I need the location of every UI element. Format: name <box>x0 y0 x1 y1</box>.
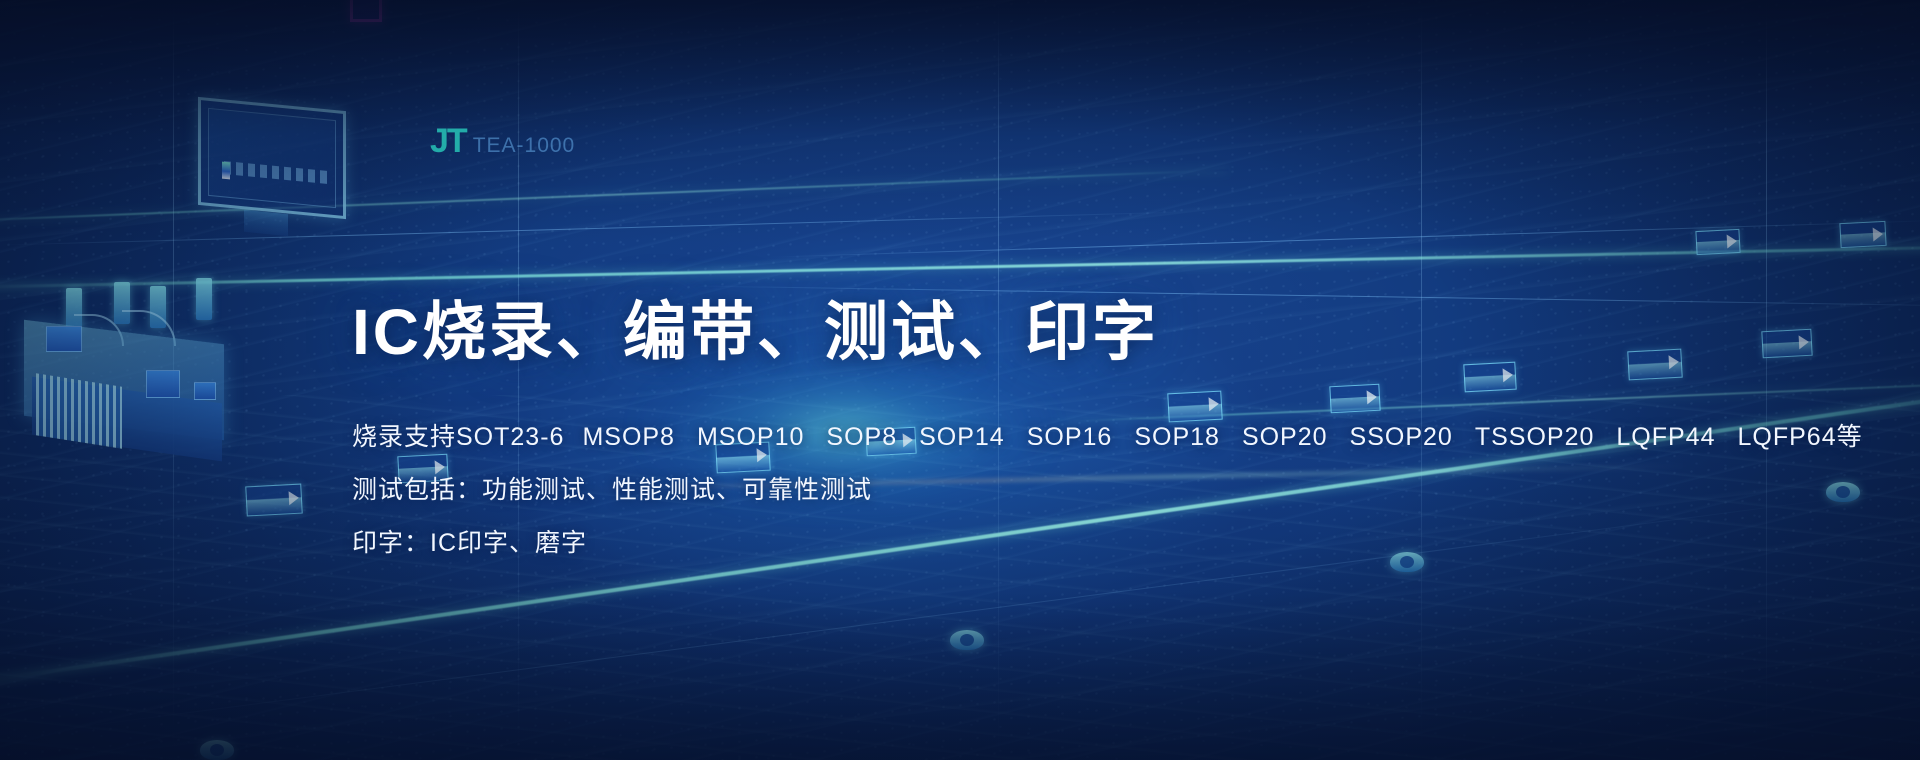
package-item: MSOP10 <box>697 418 804 457</box>
banner-subtext: 烧录支持SOT23-6 MSOP8MSOP10SOP8SOP14SOP16SOP… <box>352 418 1612 562</box>
magenta-artifact <box>350 0 382 22</box>
package-item: LQFP64等 <box>1738 418 1863 457</box>
chip-glyph <box>1761 329 1812 359</box>
background-edge-line <box>0 211 1190 245</box>
watermark-model: TEA-1000 <box>473 134 576 158</box>
package-item: SSOP20 <box>1350 418 1453 457</box>
control-monitor-illustration <box>198 104 346 212</box>
package-support-label: 烧录支持SOT23-6 <box>352 418 564 457</box>
package-item: SOP8 <box>826 418 897 457</box>
chip-glyph <box>1627 349 1682 381</box>
marking-scope-line: 印字：IC印字、磨字 <box>352 524 1612 563</box>
chip-glyph <box>1839 221 1886 248</box>
package-item: SOP18 <box>1134 418 1220 457</box>
package-item: SOP14 <box>919 418 1005 457</box>
banner-content: IC烧录、编带、测试、印字 烧录支持SOT23-6 MSOP8MSOP10SOP… <box>352 300 1612 562</box>
spool-glyph <box>1826 482 1860 502</box>
background-light-rail <box>0 169 1228 225</box>
banner-headline: IC烧录、编带、测试、印字 <box>352 300 1612 364</box>
package-item: SOP20 <box>1242 418 1328 457</box>
chip-glyph <box>1695 229 1740 255</box>
test-scope-line: 测试包括：功能测试、性能测试、可靠性测试 <box>352 471 1612 510</box>
ic-service-banner: JT TEA-1000 IC烧录、编带、测试、印字 烧录支持SOT23-6 MS… <box>0 0 1920 760</box>
package-item: MSOP8 <box>582 418 675 457</box>
package-list: MSOP8MSOP10SOP8SOP14SOP16SOP18SOP20SSOP2… <box>582 418 1862 457</box>
package-item: LQFP44 <box>1616 418 1715 457</box>
spool-glyph <box>200 740 234 760</box>
production-machine-illustration <box>10 270 250 470</box>
background-pillar <box>1766 0 1767 760</box>
equipment-watermark: JT TEA-1000 <box>430 122 575 161</box>
chip-glyph <box>245 484 302 517</box>
package-item: SOP16 <box>1027 418 1113 457</box>
watermark-brand: JT <box>430 122 466 161</box>
package-item: TSSOP20 <box>1475 418 1595 457</box>
spool-glyph <box>950 630 984 650</box>
package-support-line: 烧录支持SOT23-6 MSOP8MSOP10SOP8SOP14SOP16SOP… <box>352 418 1612 457</box>
